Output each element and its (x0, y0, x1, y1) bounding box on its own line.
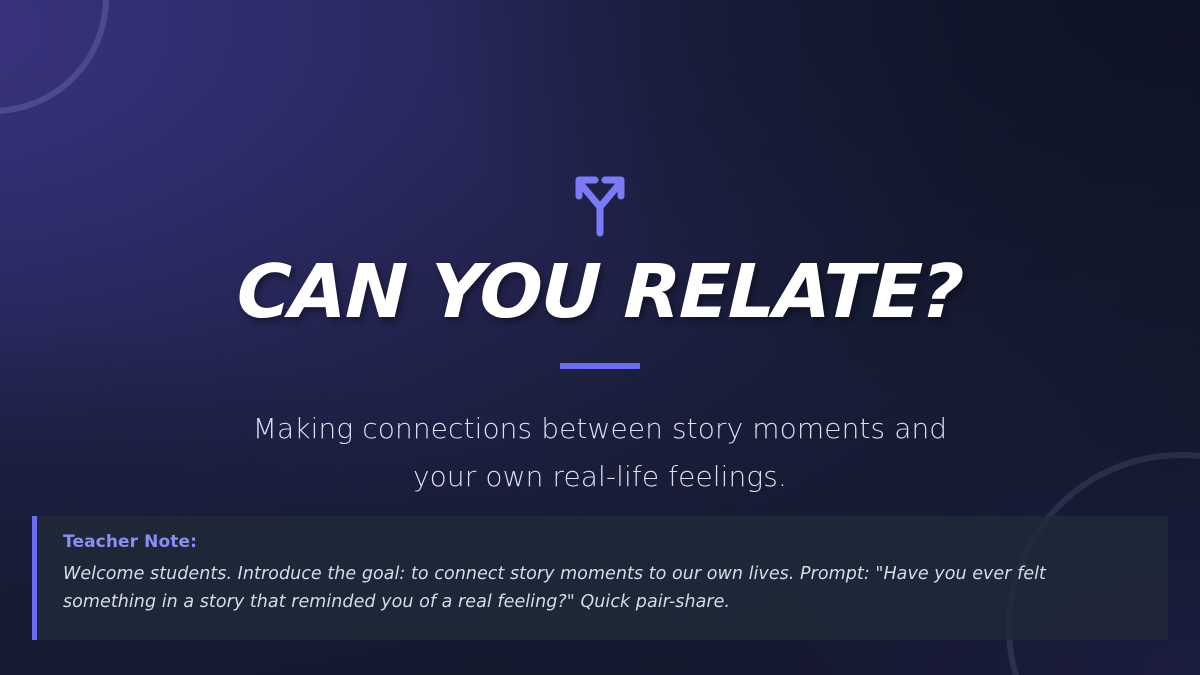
teacher-note-body: Welcome students. Introduce the goal: to… (63, 560, 1142, 617)
page-title: CAN YOU RELATE? (236, 255, 964, 329)
teacher-note-panel: Teacher Note: Welcome students. Introduc… (32, 516, 1168, 640)
slide-content: CAN YOU RELATE? Making connections betwe… (0, 0, 1200, 501)
teacher-note-label: Teacher Note: (63, 532, 1142, 552)
accent-divider (560, 363, 640, 369)
slide-subtitle: Making connections between story moments… (220, 405, 980, 501)
slide-canvas: CAN YOU RELATE? Making connections betwe… (0, 0, 1200, 675)
split-arrows-icon (562, 163, 638, 239)
